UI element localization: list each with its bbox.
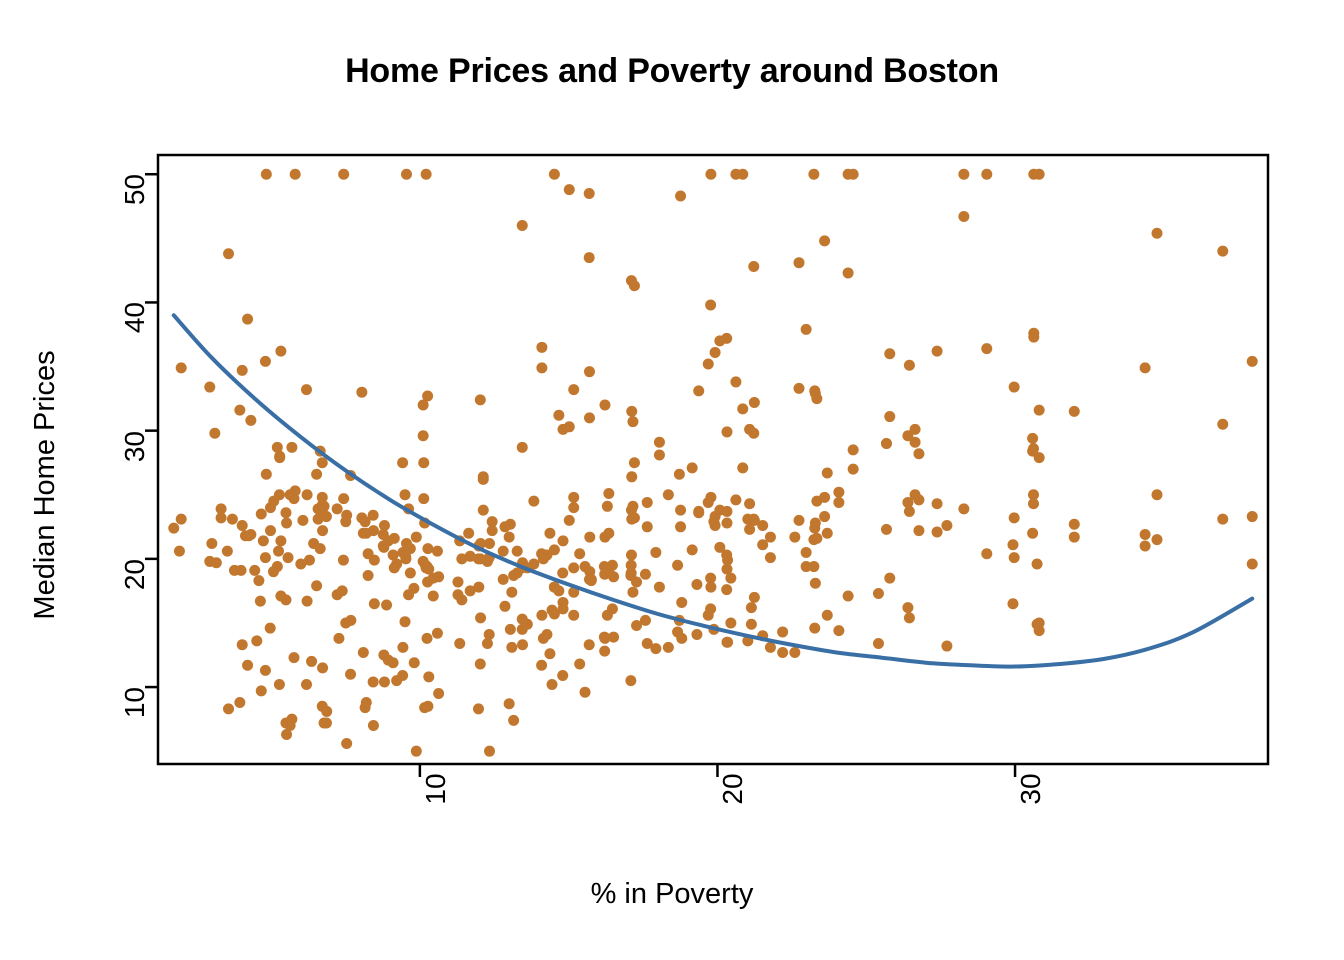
data-point: [249, 565, 260, 576]
data-point: [725, 573, 736, 584]
data-point: [388, 550, 399, 561]
data-point: [549, 169, 560, 180]
data-point: [765, 552, 776, 563]
data-point: [822, 467, 833, 478]
data-point: [672, 560, 683, 571]
data-point: [251, 635, 262, 646]
data-point: [1140, 529, 1151, 540]
data-point: [958, 169, 969, 180]
data-point: [549, 582, 560, 593]
data-point: [345, 669, 356, 680]
data-point: [777, 626, 788, 637]
data-point: [705, 169, 716, 180]
data-point: [586, 574, 597, 585]
data-point: [338, 493, 349, 504]
data-point: [456, 594, 467, 605]
data-point: [654, 437, 665, 448]
data-point: [280, 507, 291, 518]
data-point: [568, 502, 579, 513]
data-point: [941, 641, 952, 652]
data-point: [843, 169, 854, 180]
data-point: [884, 348, 895, 359]
data-point: [408, 583, 419, 594]
data-point: [1069, 406, 1080, 417]
data-point: [536, 660, 547, 671]
data-point: [580, 687, 591, 698]
data-point: [958, 211, 969, 222]
data-point: [691, 579, 702, 590]
data-point: [333, 633, 344, 644]
data-point: [311, 580, 322, 591]
y-tick-label: 40: [119, 302, 151, 333]
data-point: [564, 515, 575, 526]
data-point: [508, 570, 519, 581]
data-point: [1152, 489, 1163, 500]
data-point: [675, 191, 686, 202]
data-point: [222, 546, 233, 557]
data-point: [506, 642, 517, 653]
data-point: [421, 169, 432, 180]
data-point: [705, 582, 716, 593]
data-point: [1032, 558, 1043, 569]
data-point: [910, 489, 921, 500]
data-point: [317, 662, 328, 673]
data-point: [544, 648, 555, 659]
data-point: [1027, 528, 1038, 539]
data-point: [848, 444, 859, 455]
y-tick-label: 50: [119, 174, 151, 205]
data-point: [223, 703, 234, 714]
data-point: [400, 489, 411, 500]
data-point: [475, 659, 486, 670]
data-point: [663, 489, 674, 500]
data-point: [301, 679, 312, 690]
data-point: [397, 642, 408, 653]
data-point: [599, 646, 610, 657]
data-point: [626, 560, 637, 571]
data-point: [290, 169, 301, 180]
data-point: [411, 746, 422, 757]
data-point: [265, 525, 276, 536]
data-point: [789, 647, 800, 658]
data-point: [454, 638, 465, 649]
data-point: [242, 314, 253, 325]
data-point: [705, 300, 716, 311]
data-point: [910, 437, 921, 448]
data-point: [1007, 539, 1018, 550]
data-point: [808, 169, 819, 180]
data-point: [418, 493, 429, 504]
data-point: [642, 497, 653, 508]
data-point: [568, 562, 579, 573]
data-point: [691, 629, 702, 640]
data-point: [234, 697, 245, 708]
x-tick-label: 20: [717, 773, 749, 804]
data-point: [432, 546, 443, 557]
data-point: [301, 384, 312, 395]
data-point: [274, 452, 285, 463]
data-point: [833, 497, 844, 508]
data-point: [281, 517, 292, 528]
data-point: [981, 343, 992, 354]
data-point: [744, 424, 755, 435]
data-point: [258, 535, 269, 546]
data-point: [568, 492, 579, 503]
data-point: [744, 524, 755, 535]
data-point: [261, 169, 272, 180]
data-point: [302, 596, 313, 607]
data-point: [368, 720, 379, 731]
data-point: [422, 633, 433, 644]
data-point: [1028, 498, 1039, 509]
data-point: [558, 603, 569, 614]
data-point: [574, 548, 585, 559]
data-point: [932, 346, 943, 357]
data-point: [564, 184, 575, 195]
data-point: [881, 524, 892, 535]
data-point: [904, 360, 915, 371]
data-point: [746, 602, 757, 613]
data-point: [498, 546, 509, 557]
data-point: [730, 376, 741, 387]
data-point: [504, 532, 515, 543]
data-point: [255, 596, 266, 607]
data-point: [833, 625, 844, 636]
data-point: [237, 365, 248, 376]
data-point: [409, 657, 420, 668]
data-point: [275, 346, 286, 357]
data-point: [433, 688, 444, 699]
scatter-plot-canvas: [0, 0, 1344, 960]
data-point: [904, 612, 915, 623]
data-point: [749, 592, 760, 603]
data-point: [737, 403, 748, 414]
data-point: [626, 406, 637, 417]
data-point: [174, 546, 185, 557]
data-point: [379, 676, 390, 687]
data-point: [675, 521, 686, 532]
data-point: [242, 660, 253, 671]
data-point: [268, 566, 279, 577]
data-point: [819, 511, 830, 522]
data-point: [603, 488, 614, 499]
data-point: [626, 471, 637, 482]
x-tick-label: 30: [1015, 773, 1047, 804]
data-point: [176, 514, 187, 525]
data-point: [245, 415, 256, 426]
data-point: [642, 521, 653, 532]
data-point: [1009, 552, 1020, 563]
data-point: [475, 553, 486, 564]
data-point: [499, 601, 510, 612]
data-point: [1034, 169, 1045, 180]
data-point: [234, 405, 245, 416]
data-point: [261, 469, 272, 480]
data-point: [737, 462, 748, 473]
y-tick-label: 20: [119, 559, 151, 590]
data-point: [478, 505, 489, 516]
data-point: [223, 248, 234, 259]
data-point: [544, 528, 555, 539]
data-point: [584, 639, 595, 650]
data-point: [286, 442, 297, 453]
data-point: [253, 575, 264, 586]
data-point: [584, 252, 595, 263]
data-point: [378, 529, 389, 540]
data-point: [260, 356, 271, 367]
data-point: [1034, 405, 1045, 416]
data-point: [419, 702, 430, 713]
data-point: [273, 546, 284, 557]
data-point: [631, 576, 642, 587]
data-point: [584, 366, 595, 377]
data-point: [809, 623, 820, 634]
data-point: [913, 448, 924, 459]
data-point: [693, 385, 704, 396]
data-point: [388, 657, 399, 668]
data-point: [475, 612, 486, 623]
data-point: [721, 584, 732, 595]
data-point: [512, 546, 523, 557]
data-point: [345, 615, 356, 626]
data-point: [317, 492, 328, 503]
data-point: [558, 535, 569, 546]
data-point: [268, 496, 279, 507]
data-point: [517, 442, 528, 453]
data-point: [400, 616, 411, 627]
data-point: [418, 430, 429, 441]
data-point: [285, 720, 296, 731]
data-point: [884, 573, 895, 584]
data-point: [819, 492, 830, 503]
data-point: [746, 619, 757, 630]
data-point: [757, 539, 768, 550]
data-point: [428, 591, 439, 602]
data-point: [730, 494, 741, 505]
data-point: [687, 544, 698, 555]
data-point: [381, 600, 392, 611]
data-point: [819, 235, 830, 246]
data-point: [369, 598, 380, 609]
data-point: [1028, 332, 1039, 343]
data-point: [338, 555, 349, 566]
data-point: [627, 501, 638, 512]
data-point: [789, 532, 800, 543]
data-point: [360, 702, 371, 713]
data-point: [599, 400, 610, 411]
data-point: [452, 576, 463, 587]
data-point: [848, 464, 859, 475]
data-point: [672, 626, 683, 637]
data-point: [843, 591, 854, 602]
data-point: [1152, 534, 1163, 545]
data-point: [541, 629, 552, 640]
data-point: [801, 561, 812, 572]
data-point: [777, 647, 788, 658]
data-point: [1140, 362, 1151, 373]
data-point: [1009, 512, 1020, 523]
data-point: [765, 642, 776, 653]
data-point: [411, 532, 422, 543]
data-point: [640, 569, 651, 580]
data-point: [473, 703, 484, 714]
data-point: [884, 411, 895, 422]
data-point: [902, 602, 913, 613]
data-point: [356, 387, 367, 398]
data-point: [536, 362, 547, 373]
data-point: [568, 610, 579, 621]
data-point: [710, 347, 721, 358]
data-point: [675, 505, 686, 516]
data-point: [629, 512, 640, 523]
data-point: [317, 525, 328, 536]
data-point: [553, 410, 564, 421]
data-point: [423, 671, 434, 682]
data-point: [705, 603, 716, 614]
data-point: [368, 676, 379, 687]
data-point: [1032, 619, 1043, 630]
data-point: [1217, 514, 1228, 525]
data-point: [280, 594, 291, 605]
data-point: [810, 517, 821, 528]
y-tick-label: 10: [119, 687, 151, 718]
data-point: [794, 515, 805, 526]
data-point: [674, 469, 685, 480]
data-point: [260, 552, 271, 563]
data-point: [211, 557, 222, 568]
data-point: [1247, 511, 1258, 522]
data-point: [1247, 356, 1258, 367]
data-point: [981, 169, 992, 180]
data-point: [176, 362, 187, 373]
data-point: [289, 652, 300, 663]
data-point: [714, 335, 725, 346]
data-point: [981, 548, 992, 559]
data-point: [881, 438, 892, 449]
data-point: [505, 519, 516, 530]
data-point: [1007, 598, 1018, 609]
data-point: [703, 358, 714, 369]
data-point: [295, 558, 306, 569]
data-point: [498, 574, 509, 585]
data-point: [473, 582, 484, 593]
data-point: [873, 638, 884, 649]
data-point: [505, 624, 516, 635]
data-point: [297, 515, 308, 526]
data-point: [358, 647, 369, 658]
data-point: [321, 706, 332, 717]
data-point: [420, 560, 431, 571]
data-point: [463, 528, 474, 539]
data-point: [794, 257, 805, 268]
data-point: [650, 643, 661, 654]
data-point: [216, 503, 227, 514]
data-point: [311, 469, 322, 480]
data-point: [558, 424, 569, 435]
data-point: [607, 603, 618, 614]
data-point: [714, 505, 725, 516]
data-point: [422, 543, 433, 554]
data-point: [602, 501, 613, 512]
data-point: [363, 570, 374, 581]
data-point: [227, 514, 238, 525]
data-point: [730, 169, 741, 180]
data-point: [1217, 246, 1228, 257]
data-point: [389, 562, 400, 573]
data-point: [236, 565, 247, 576]
data-point: [306, 656, 317, 667]
data-point: [748, 261, 759, 272]
data-point: [504, 698, 515, 709]
data-point: [547, 679, 558, 690]
data-point: [574, 659, 585, 670]
data-point: [341, 738, 352, 749]
data-point: [522, 619, 533, 630]
data-point: [1152, 228, 1163, 239]
data-point: [822, 610, 833, 621]
data-point: [801, 547, 812, 558]
data-point: [209, 428, 220, 439]
data-point: [482, 638, 493, 649]
data-point: [708, 516, 719, 527]
data-point: [744, 498, 755, 509]
data-point: [932, 498, 943, 509]
data-point: [549, 544, 560, 555]
data-point: [557, 567, 568, 578]
data-point: [308, 538, 319, 549]
data-point: [506, 587, 517, 598]
data-point: [1069, 519, 1080, 530]
data-point: [913, 525, 924, 536]
data-point: [1217, 419, 1228, 430]
data-point: [338, 169, 349, 180]
data-point: [958, 503, 969, 514]
data-point: [400, 551, 411, 562]
data-point: [1247, 558, 1258, 569]
data-point: [237, 520, 248, 531]
data-point: [302, 489, 313, 500]
data-point: [910, 424, 921, 435]
data-point: [508, 715, 519, 726]
data-point: [721, 517, 732, 528]
data-point: [693, 506, 704, 517]
data-point: [422, 391, 433, 402]
chart-figure: Home Prices and Poverty around Boston Me…: [0, 0, 1344, 960]
data-point: [721, 637, 732, 648]
y-tick-label: 30: [119, 431, 151, 462]
data-point: [809, 385, 820, 396]
data-point: [810, 578, 821, 589]
data-point: [528, 496, 539, 507]
x-tick-label: 10: [420, 773, 452, 804]
data-point: [568, 384, 579, 395]
data-point: [475, 394, 486, 405]
data-point: [801, 324, 812, 335]
data-point: [627, 587, 638, 598]
data-point: [654, 450, 665, 461]
data-point: [811, 533, 822, 544]
data-point: [317, 506, 328, 517]
data-point: [319, 717, 330, 728]
data-point: [705, 492, 716, 503]
data-point: [584, 188, 595, 199]
data-point: [663, 642, 674, 653]
data-point: [599, 632, 610, 643]
data-point: [1140, 541, 1151, 552]
data-point: [369, 555, 380, 566]
data-point: [237, 639, 248, 650]
data-point: [941, 520, 952, 531]
